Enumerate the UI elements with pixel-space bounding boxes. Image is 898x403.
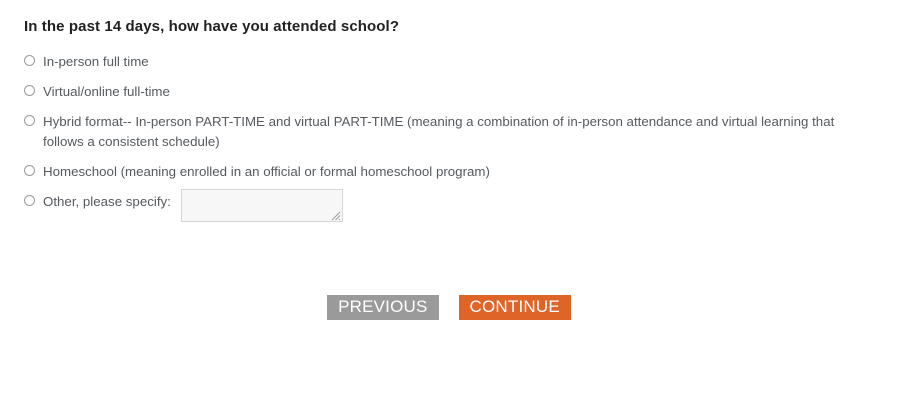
page-title: In the past 14 days, how have you attend…	[24, 18, 399, 35]
option-label: Homeschool (meaning enrolled in an offic…	[43, 162, 490, 182]
option-label: Hybrid format-- In-person PART-TIME and …	[43, 112, 843, 152]
radio-option-group: In-person full time Virtual/online full-…	[24, 52, 874, 222]
radio-button-icon[interactable]	[24, 55, 35, 66]
other-textarea-wrapper	[181, 192, 343, 222]
option-label: In-person full time	[43, 52, 149, 72]
option-label: Other, please specify:	[43, 192, 171, 212]
option-virtual-online-full-time[interactable]: Virtual/online full-time	[24, 82, 874, 102]
option-in-person-full-time[interactable]: In-person full time	[24, 52, 874, 72]
option-homeschool[interactable]: Homeschool (meaning enrolled in an offic…	[24, 162, 874, 182]
option-hybrid-format[interactable]: Hybrid format-- In-person PART-TIME and …	[24, 112, 874, 152]
radio-button-icon[interactable]	[24, 85, 35, 96]
survey-question-page: In the past 14 days, how have you attend…	[0, 0, 898, 403]
continue-button[interactable]: CONTINUE	[459, 295, 571, 320]
radio-button-icon[interactable]	[24, 115, 35, 126]
other-specify-input[interactable]	[181, 189, 343, 222]
other-option-inner: Other, please specify:	[43, 192, 343, 222]
previous-button[interactable]: PREVIOUS	[327, 295, 438, 320]
option-label: Virtual/online full-time	[43, 82, 170, 102]
radio-button-icon[interactable]	[24, 165, 35, 176]
option-other[interactable]: Other, please specify:	[24, 192, 874, 222]
radio-button-icon[interactable]	[24, 195, 35, 206]
navigation-button-bar: PREVIOUS CONTINUE	[0, 295, 898, 320]
